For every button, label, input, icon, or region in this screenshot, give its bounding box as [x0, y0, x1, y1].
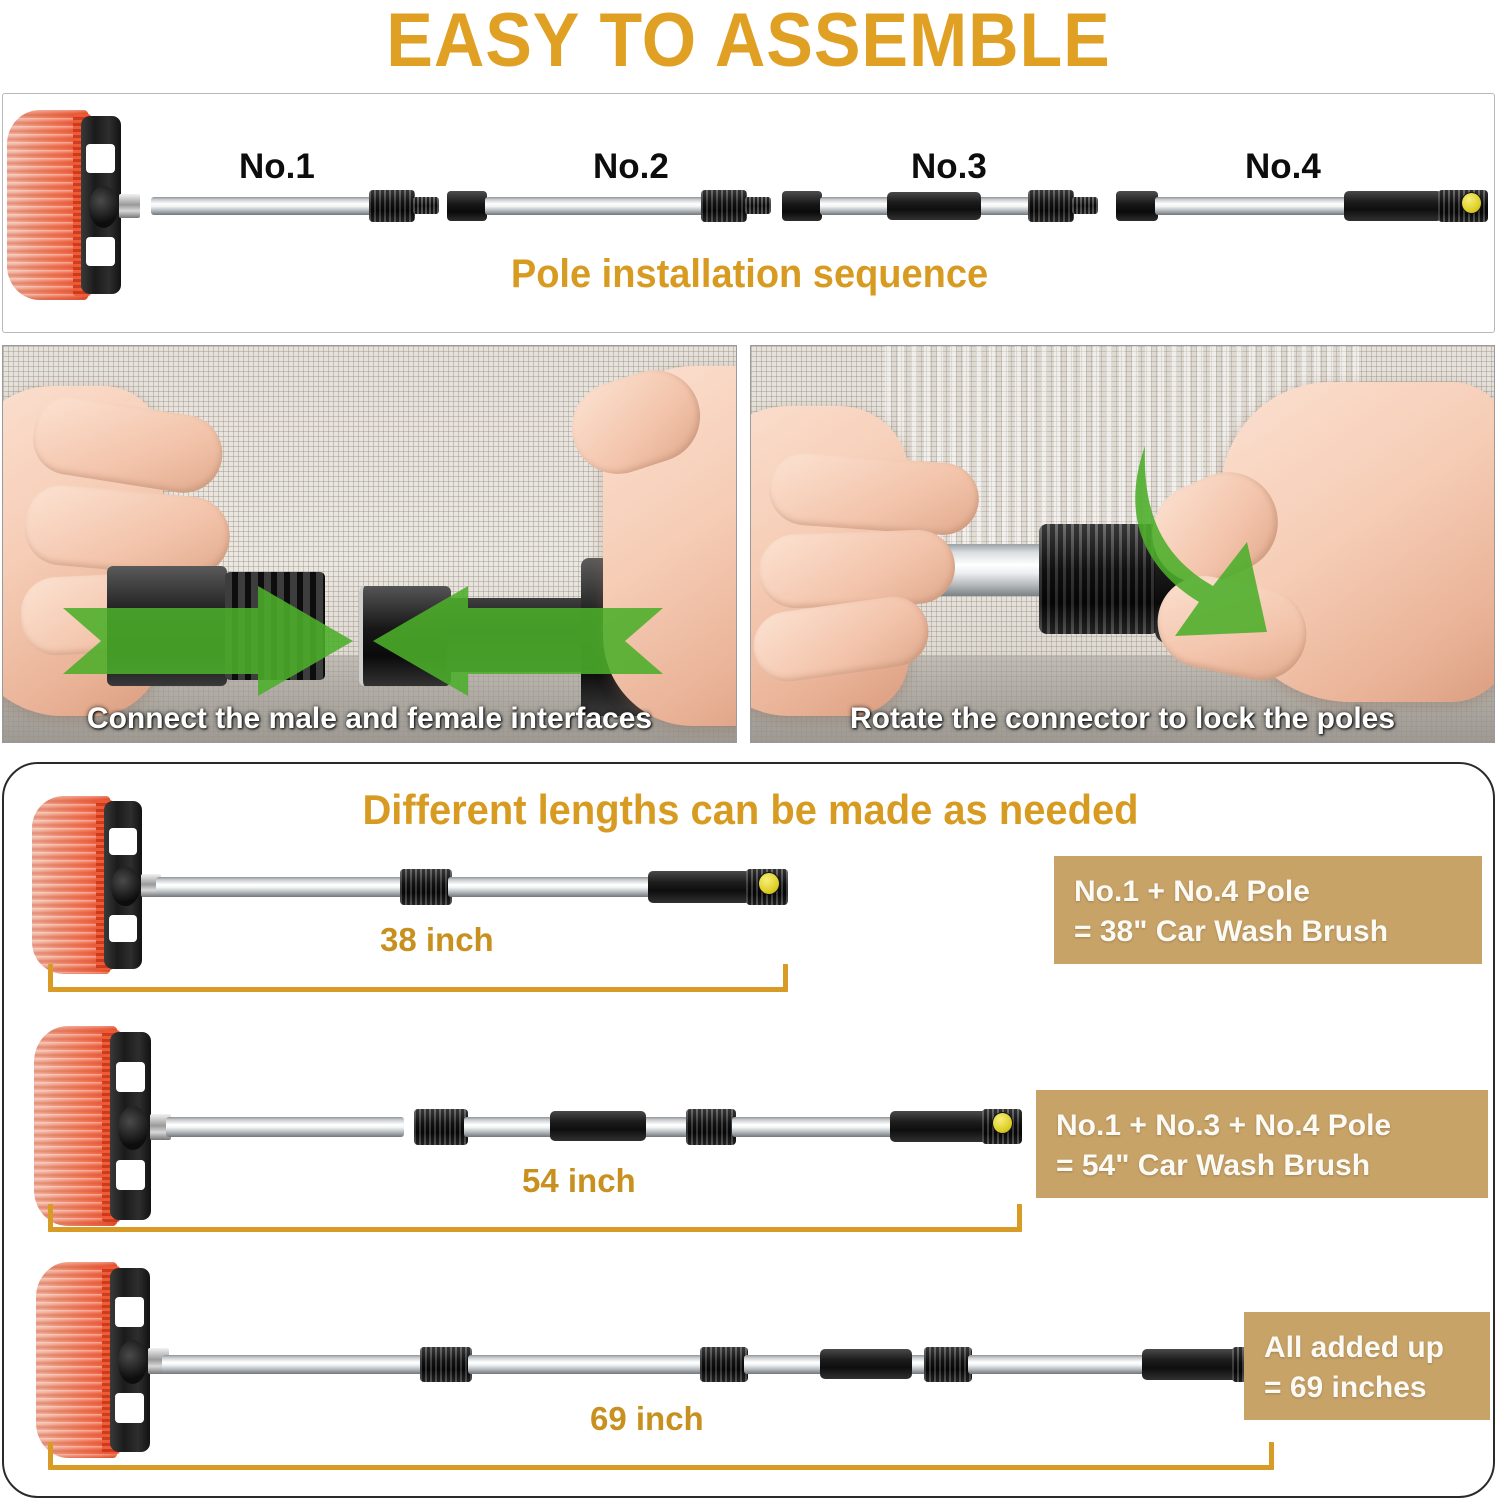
yellow-release-button[interactable]: [992, 1112, 1013, 1134]
pole-female-collar-2: [447, 191, 487, 221]
config-tag-line1: No.1 + No.3 + No.4 Pole: [1056, 1106, 1470, 1146]
pole-connector-knob-1[interactable]: [420, 1347, 472, 1382]
brush-head-image: [32, 796, 160, 974]
pole-tube-2: [468, 1355, 704, 1374]
brush-bristles: [34, 1026, 118, 1226]
yellow-release-button[interactable]: [758, 872, 780, 895]
pole-tube-4: [448, 877, 654, 897]
config-tag-line2: = 54" Car Wash Brush: [1056, 1146, 1470, 1186]
config-tag-69: All added up = 69 inches: [1244, 1312, 1490, 1420]
pole-connector-knob-2[interactable]: [700, 1347, 748, 1382]
brush-pivot-hub: [118, 1340, 147, 1383]
pole-connector-knob-2[interactable]: [686, 1109, 736, 1145]
pole-connector-knob-2: [701, 190, 747, 222]
pole-label-2: No.2: [593, 147, 669, 187]
pole-label-1: No.1: [239, 147, 315, 187]
config-tag-line2: = 69 inches: [1264, 1368, 1472, 1408]
pole-connector-knob-3[interactable]: [924, 1347, 972, 1382]
config-tag-line1: All added up: [1264, 1328, 1472, 1368]
pole-connector-knob-3: [1028, 190, 1074, 222]
lengths-panel: Different lengths can be made as needed …: [2, 762, 1495, 1498]
pole-foam-grip-3: [550, 1111, 646, 1141]
step-photo-rotate: Rotate the connector to lock the poles: [750, 345, 1495, 743]
arrow-left-icon: [373, 586, 663, 696]
pole-female-collar-3: [782, 191, 822, 221]
pole-tube-1: [151, 197, 373, 215]
pole-tube-4: [1155, 197, 1361, 215]
pole-tube-2: [485, 197, 705, 215]
pole-male-tip-2: [745, 197, 771, 214]
config-tag-line2: = 38" Car Wash Brush: [1074, 912, 1464, 952]
pole-male-tip-1: [413, 197, 439, 214]
pole-label-4: No.4: [1245, 147, 1321, 187]
pole-connector-knob-1: [369, 190, 415, 222]
pole-tube-4: [732, 1117, 896, 1137]
pole-label-3: No.3: [911, 147, 987, 187]
brush-pivot-hub: [118, 1106, 148, 1150]
pole-male-tip-3: [1072, 197, 1098, 214]
brush-bristles: [36, 1262, 118, 1458]
pole-connector-knob-1[interactable]: [414, 1109, 468, 1145]
pole-foam-grip-3: [887, 192, 981, 220]
infographic-page: EASY TO ASSEMBLE No.1 No.2: [0, 0, 1497, 1500]
left-middle-finger: [758, 529, 956, 610]
left-index-finger: [767, 451, 982, 537]
pole-foam-handle: [648, 871, 750, 903]
measurement-label-38: 38 inch: [380, 921, 494, 959]
curved-arrow-icon: [1117, 436, 1357, 676]
page-title: EASY TO ASSEMBLE: [60, 0, 1437, 84]
measurement-bracket-69: [48, 1442, 1274, 1470]
pole-foam-handle: [890, 1111, 988, 1142]
pole-tube-1: [166, 1117, 404, 1137]
pole-sequence-panel: No.1 No.2 No.3 No.4 Pole installation se…: [2, 93, 1495, 333]
brush-bristles: [32, 796, 111, 974]
arrow-right-icon: [63, 586, 353, 696]
config-tag-38: No.1 + No.4 Pole = 38" Car Wash Brush: [1054, 856, 1482, 964]
step-caption-rotate: Rotate the connector to lock the poles: [751, 702, 1494, 736]
sequence-caption: Pole installation sequence: [40, 252, 1458, 297]
yellow-release-button[interactable]: [1461, 192, 1482, 214]
config-tag-54: No.1 + No.3 + No.4 Pole = 54" Car Wash B…: [1036, 1090, 1488, 1198]
pole-tube-4: [968, 1355, 1158, 1374]
measurement-bracket-54: [48, 1204, 1022, 1232]
measurement-label-54: 54 inch: [522, 1162, 636, 1200]
brush-head-image: [34, 1026, 170, 1226]
pole-tube-1: [156, 877, 412, 897]
pole-foam-handle: [1142, 1349, 1240, 1380]
measurement-bracket-38: [48, 964, 788, 992]
step-photo-connect: Connect the male and female interfaces: [2, 345, 737, 743]
pole-connector-knob[interactable]: [400, 869, 452, 905]
brush-pivot-hub: [89, 186, 118, 228]
brush-ferrule: [119, 194, 140, 219]
brush-head-image: [36, 1262, 168, 1458]
brush-pivot-hub: [111, 867, 139, 906]
config-tag-line1: No.1 + No.4 Pole: [1074, 872, 1464, 912]
pole-tube-1: [162, 1355, 424, 1374]
pole-foam-grip-3: [820, 1349, 912, 1379]
pole-foam-handle-4: [1344, 191, 1442, 221]
step-caption-connect: Connect the male and female interfaces: [3, 702, 736, 736]
lengths-panel-title: Different lengths can be made as needed: [41, 786, 1459, 834]
measurement-label-69: 69 inch: [590, 1400, 704, 1438]
pole-female-collar-4: [1116, 191, 1158, 221]
